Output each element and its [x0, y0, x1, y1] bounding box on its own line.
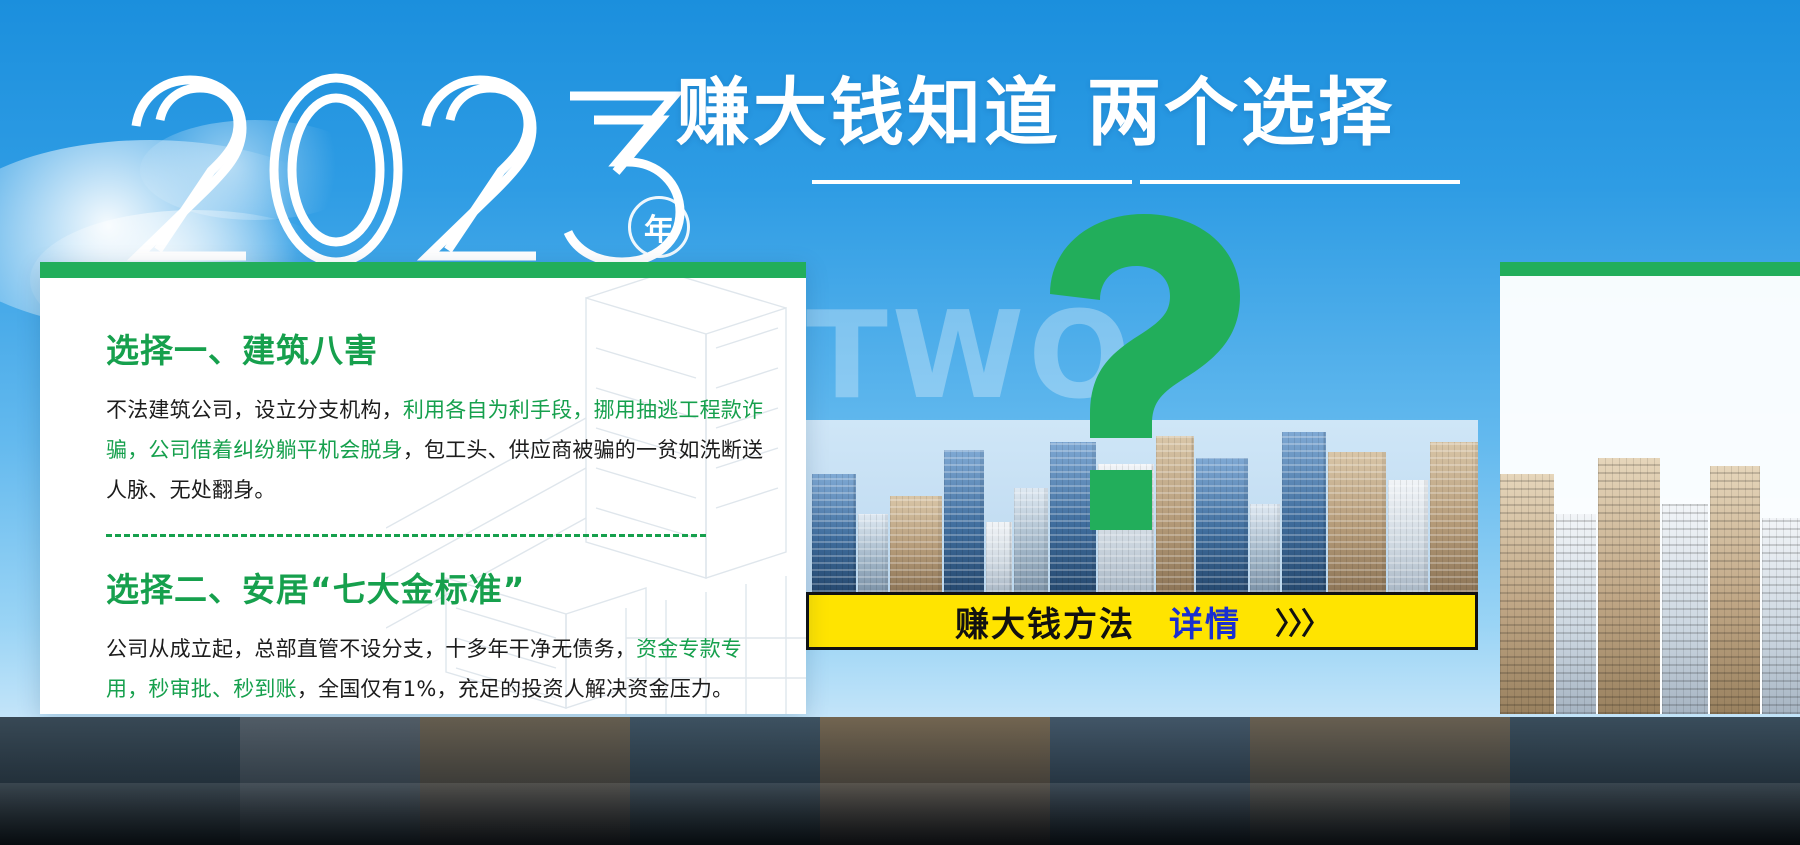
bottom-photo-strip: [0, 717, 1800, 845]
section-divider: [106, 534, 706, 537]
section-two-title: 选择二、安居“七大金标准”: [106, 563, 776, 611]
right-towers-photo: [1500, 420, 1800, 714]
page-title: 赚大钱知道两个选择: [676, 76, 1395, 150]
headline-rule-left: [812, 180, 1132, 184]
card-body: 选择一、建筑八害 不法建筑公司，设立分支机构，利用各自为利手段，挪用抽逃工程款诈…: [40, 278, 806, 714]
section-two: 选择二、安居“七大金标准” 公司从成立起，总部直管不设分支，十多年干净无债务，资…: [106, 563, 776, 709]
cta-button[interactable]: 赚大钱方法 详情 〉〉〉: [806, 592, 1478, 650]
text-run: 公司从成立起，总部直管不设分支，十多年干净无债务，: [106, 637, 636, 661]
section-two-text: 公司从成立起，总部直管不设分支，十多年干净无债务，资金专款专用，秒审批、秒到账，…: [106, 629, 776, 709]
text-run: 不法建筑公司，设立分支机构，: [106, 398, 403, 422]
headline-part-1: 赚大钱知道: [676, 70, 1061, 156]
section-one-text: 不法建筑公司，设立分支机构，利用各自为利手段，挪用抽逃工程款诈骗，公司借着纠纷躺…: [106, 390, 776, 510]
right-green-accent-bar: [1500, 262, 1800, 276]
chevron-right-icon: 〉〉〉: [1275, 599, 1329, 643]
water-reflection: [0, 783, 1800, 845]
text-run: ，全国仅有1%，充足的投资人解决资金压力。: [297, 677, 734, 701]
section-one-title: 选择一、建筑八害: [106, 324, 776, 372]
headline-rule-right: [1140, 180, 1460, 184]
cta-detail-link[interactable]: 详情: [1169, 597, 1241, 646]
year-suffix-badge: 年: [628, 196, 690, 258]
city-skyline-photo: [806, 420, 1478, 592]
card-accent-bar: [40, 262, 806, 278]
cta-main-label: 赚大钱方法: [955, 597, 1135, 646]
cloud-decoration: [140, 120, 370, 220]
content-card: 选择一、建筑八害 不法建筑公司，设立分支机构，利用各自为利手段，挪用抽逃工程款诈…: [40, 262, 806, 714]
promo-banner: 年 赚大钱知道两个选择 TWO CHOICES 赚大钱方法: [0, 0, 1800, 845]
watermark-line-1: TWO: [806, 287, 1134, 426]
headline-part-2: 两个选择: [1087, 70, 1395, 156]
section-one: 选择一、建筑八害 不法建筑公司，设立分支机构，利用各自为利手段，挪用抽逃工程款诈…: [106, 324, 776, 510]
